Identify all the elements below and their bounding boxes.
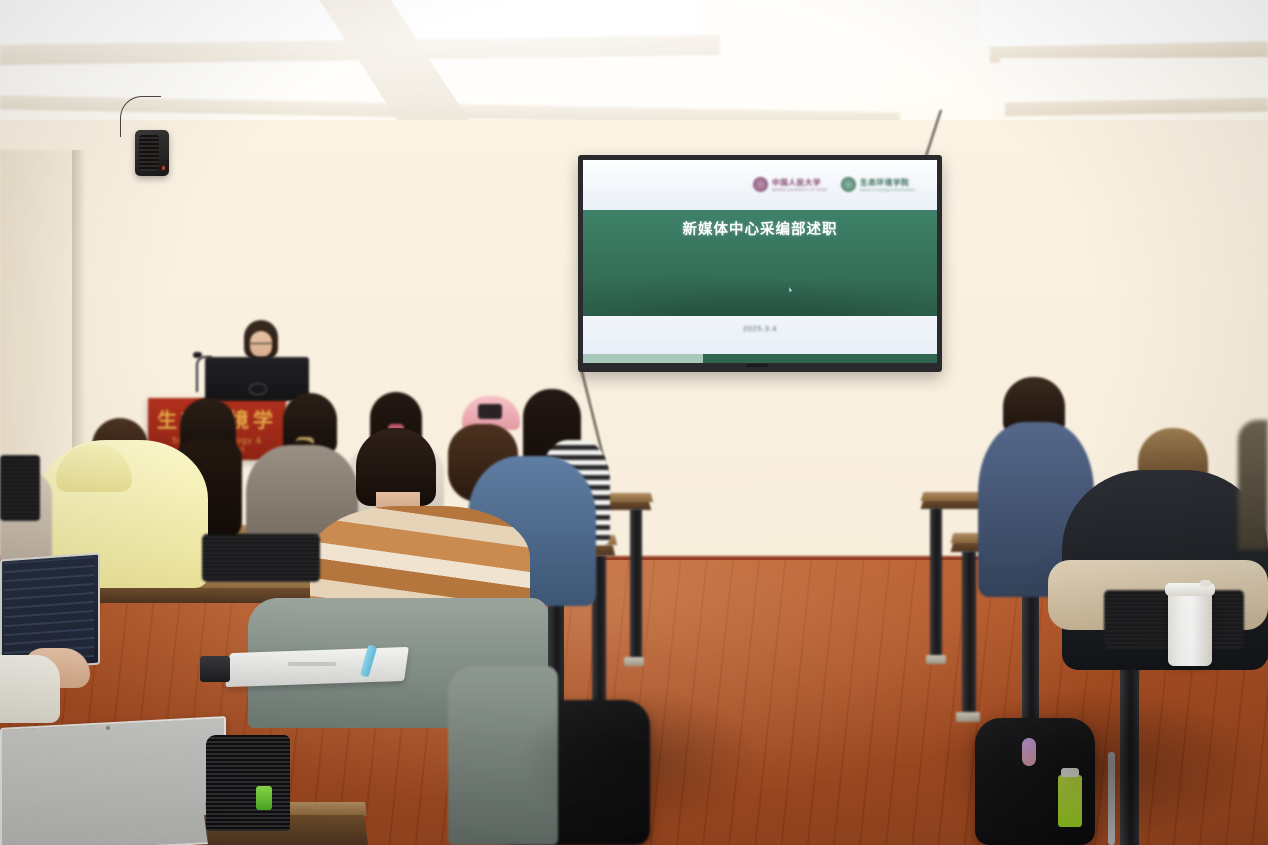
speaker-grille (139, 135, 159, 171)
closed-white-laptop-center[interactable] (225, 647, 409, 687)
slide-date: 2025.3.4 (583, 324, 937, 333)
wall-tv[interactable]: 中国人民大学 RENMIN UNIVERSITY OF CHINA 生态环境学院… (578, 155, 942, 372)
logo-en-renmin: RENMIN UNIVERSITY OF CHINA (772, 188, 827, 192)
classroom-photo: 中国人民大学 RENMIN UNIVERSITY OF CHINA 生态环境学院… (0, 0, 1268, 845)
desk-center-back-leg (630, 509, 642, 659)
wall-speaker-icon (135, 130, 169, 176)
desk-center-back-foot (624, 657, 644, 666)
chair-foreground (206, 735, 290, 831)
tumbler-spout-icon (1200, 580, 1211, 587)
logo-cn-renmin: 中国人民大学 (772, 177, 827, 188)
silver-laptop-lid-foreground[interactable] (0, 716, 226, 845)
logo-cn-ecology: 生态环境学院 (860, 177, 915, 188)
floor-shadow-center (520, 690, 760, 830)
microphone-head-icon (193, 352, 202, 358)
slide-logos: 中国人民大学 RENMIN UNIVERSITY OF CHINA 生态环境学院… (753, 172, 929, 196)
tv-screen[interactable]: 中国人民大学 RENMIN UNIVERSITY OF CHINA 生态环境学院… (583, 160, 937, 363)
sleeve-white (0, 655, 60, 723)
list-item (1238, 420, 1268, 550)
desk-right-back-foot (926, 655, 946, 664)
renmin-university-seal-icon (753, 177, 768, 192)
slide-footer-band (583, 316, 937, 354)
presenter-glasses-icon (250, 343, 272, 349)
tablet-dark (200, 656, 230, 682)
laptop-webcam-icon (106, 726, 110, 730)
slide-bottom-strip-light (583, 354, 703, 363)
desk-right-back-leg (930, 508, 942, 658)
school-of-ecology-seal-icon (841, 177, 856, 192)
slide-title: 新媒体中心采编部述职 (583, 218, 937, 239)
floor-shadow-right (930, 690, 1260, 840)
dell-logo-icon (249, 383, 267, 395)
podium-monitor (205, 357, 309, 401)
green-highlighter-icon (256, 786, 272, 810)
logo-en-ecology: School of Ecology & Environment (860, 188, 915, 192)
chair-left-mid (202, 534, 320, 582)
tv-ir-sensor (746, 364, 768, 367)
speaker-led (162, 166, 165, 170)
laptop-brand-mark (288, 662, 336, 666)
chair-left-back (0, 455, 40, 521)
cap-strap-icon (478, 404, 502, 419)
white-tumbler (1168, 592, 1212, 666)
